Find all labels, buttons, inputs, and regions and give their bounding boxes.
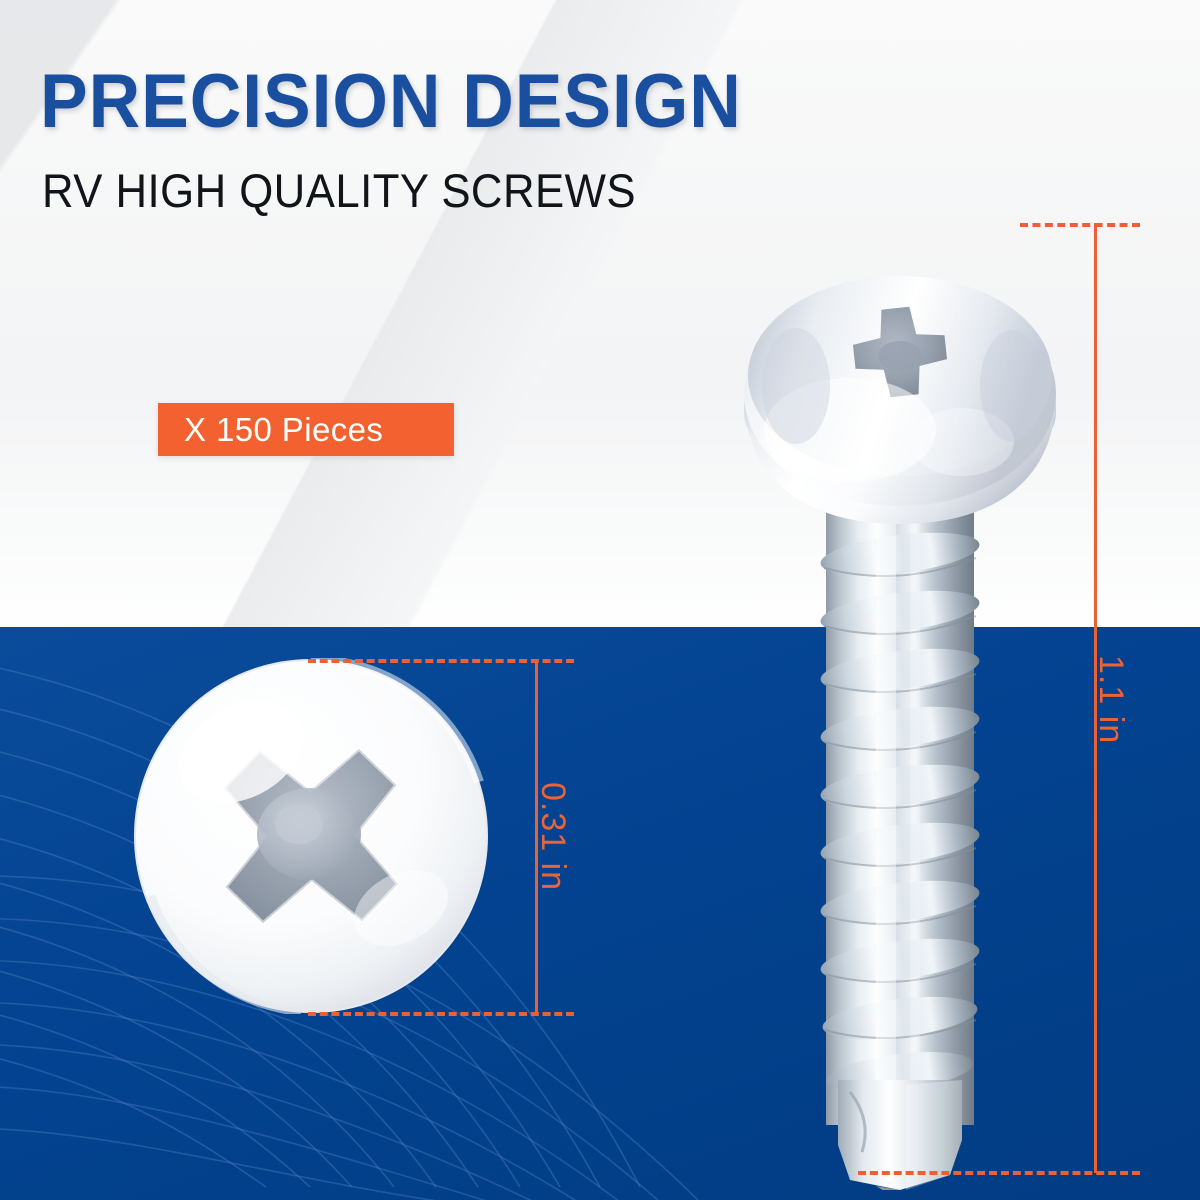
page-subtitle: RV HIGH QUALITY SCREWS (42, 166, 636, 216)
head-diameter-label: 0.31 in (536, 782, 570, 891)
page-title: PRECISION DESIGN (40, 64, 742, 140)
total-length-bottom-extension-line (858, 1171, 1140, 1175)
total-length-top-extension-line (1020, 223, 1140, 227)
quantity-badge: X 150 Pieces (158, 403, 454, 456)
total-length-label: 1.1 in (1094, 655, 1128, 744)
screw-side-view-icon (700, 180, 1100, 1190)
product-infographic: PRECISION DESIGN RV HIGH QUALITY SCREWS … (0, 0, 1200, 1200)
quantity-badge-label: X 150 Pieces (158, 413, 383, 446)
screw-head-top-view-icon (133, 658, 489, 1014)
